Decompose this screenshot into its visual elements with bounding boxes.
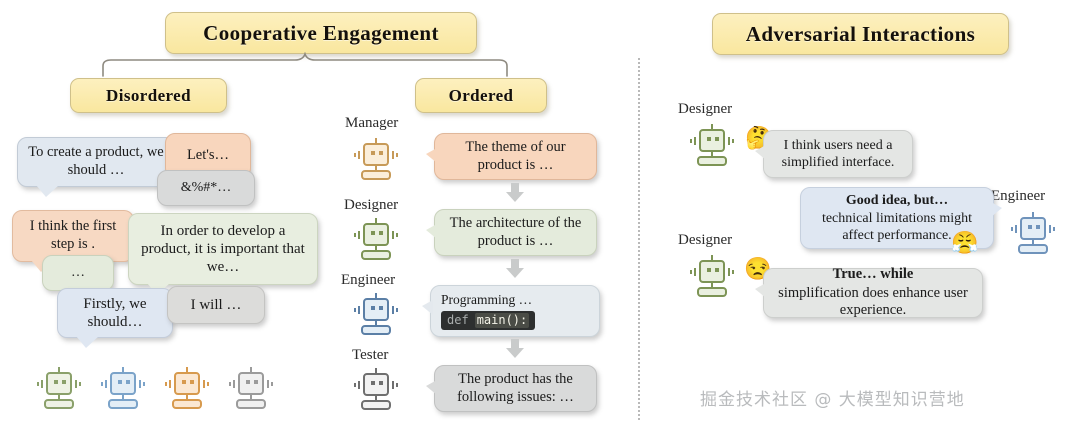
node-title-text: Cooperative Engagement [203,21,439,46]
angry-face-icon: 😤 [951,232,978,254]
role-label-engineer: Engineer [341,272,395,289]
bubble-adversarial-1: I think users need a simplified interfac… [763,130,913,178]
bubble-disordered-6: … [42,255,114,291]
robot-designer-icon [350,214,402,262]
robot-engineer-2-icon [1007,208,1059,256]
panel-divider [638,58,640,420]
robot-green-icon [33,363,85,411]
role-label-designer-3: Designer [678,232,732,249]
robot-manager-icon [350,134,402,182]
role-label-designer-1: Designer [678,101,732,118]
robot-tester-icon [350,364,402,412]
node-ordered-text: Ordered [449,86,514,106]
node-disordered-text: Disordered [106,86,191,106]
role-label-designer: Designer [344,197,398,214]
bubble-designer: The architecture of the product is … [434,209,597,256]
watermark: 掘金技术社区 @ 大模型知识营地 [700,385,965,410]
node-disordered: Disordered [70,78,227,113]
robot-blue-icon [97,363,149,411]
robot-orange-icon [161,363,213,411]
bubble-tester: The product has the following issues: … [434,365,597,412]
diagram-canvas: Cooperative Engagement Disordered Ordere… [0,0,1080,433]
role-label-tester: Tester [352,347,388,364]
bubble-disordered-3: &%#*… [157,170,255,206]
role-label-manager: Manager [345,115,398,132]
node-ordered: Ordered [415,78,547,113]
code-block: def main(): [441,311,535,330]
robot-designer-3-icon [686,251,738,299]
node-adversarial-text: Adversarial Interactions [746,22,976,47]
tree-connector-brace [95,52,515,78]
bubble-disordered-7: Firstly, we should… [57,288,173,338]
bubble-disordered-5: In order to develop a product, it is imp… [128,213,318,285]
robot-designer-1-icon [686,120,738,168]
robot-gray-icon [225,363,277,411]
bubble-engineer: Programming … def main(): [430,285,600,337]
bubble-disordered-8: I will … [167,286,265,324]
robot-engineer-icon [350,289,402,337]
bubble-manager: The theme of our product is … [434,133,597,180]
bubble-adversarial-3: True… while simplification does enhance … [763,268,983,318]
bubble-disordered-1: To create a product, we should … [17,137,175,187]
node-cooperative-engagement: Cooperative Engagement [165,12,477,54]
node-adversarial-interactions: Adversarial Interactions [712,13,1009,55]
